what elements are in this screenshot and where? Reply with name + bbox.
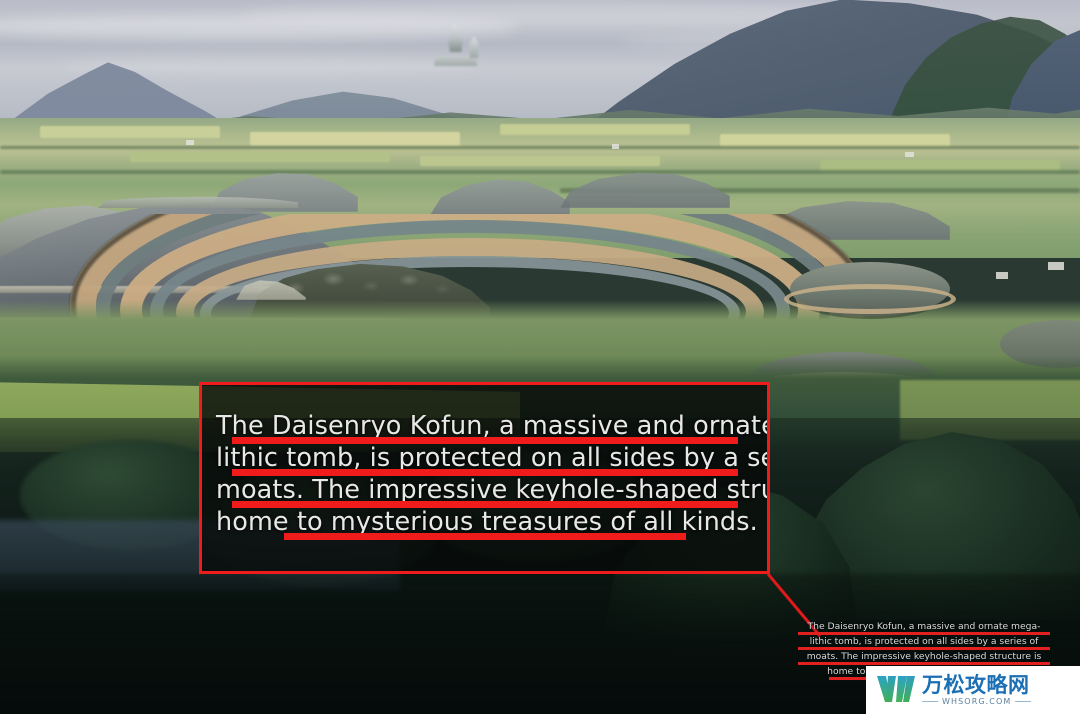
screenshot-root: The Daisenryo Kofun, a massive and ornat… [0,0,1080,714]
field-patch [250,132,460,146]
site-watermark[interactable]: 万松攻略网 WHSORG.COM [866,666,1080,714]
callout-line-2: lithic tomb, is protected on all sides b… [216,443,753,473]
watermark-rule-right [1015,701,1031,702]
watermark-url-row: WHSORG.COM [922,697,1031,706]
callout-line-4: home to mysterious treasures of all kind… [216,507,753,537]
hedgerow [0,146,1080,149]
distant-building [186,140,194,145]
caption-line-1-text: The Daisenryo Kofun, a massive and ornat… [808,621,1041,632]
caption-line-2: lithic tomb, is protected on all sides b… [790,635,1058,649]
watermark-site-name: 万松攻略网 [922,674,1031,696]
w-logo-icon [876,674,916,706]
callout-text-block: The Daisenryo Kofun, a massive and ornat… [202,385,767,571]
field-patch [130,152,390,162]
magnified-text-callout[interactable]: The Daisenryo Kofun, a massive and ornat… [199,382,770,574]
field-patch [500,124,690,135]
field-patch [420,156,660,166]
watermark-rule-left [922,701,938,702]
distant-building [612,144,619,149]
caption-line-3: moats. The impressive keyhole-shaped str… [790,650,1058,664]
hilltop-castle [428,22,488,70]
callout-line-1: The Daisenryo Kofun, a massive and ornat… [216,411,753,441]
caption-line-1: The Daisenryo Kofun, a massive and ornat… [790,620,1058,634]
distant-building [905,152,914,157]
field-patch [40,126,220,138]
watermark-text-block: 万松攻略网 WHSORG.COM [922,674,1031,706]
caption-line-3-text: moats. The impressive keyhole-shaped str… [807,651,1042,662]
castle-keep [446,22,466,52]
landscape-photo [0,0,1080,714]
callout-line-3: moats. The impressive keyhole-shaped str… [216,475,753,505]
castle-tower [468,34,480,58]
callout-highlight-bar-4 [284,533,686,540]
watermark-url: WHSORG.COM [942,697,1011,706]
hedgerow [0,170,1080,174]
kofun-ring-right-upper [784,284,956,314]
caption-line-2-text: lithic tomb, is protected on all sides b… [810,636,1039,647]
